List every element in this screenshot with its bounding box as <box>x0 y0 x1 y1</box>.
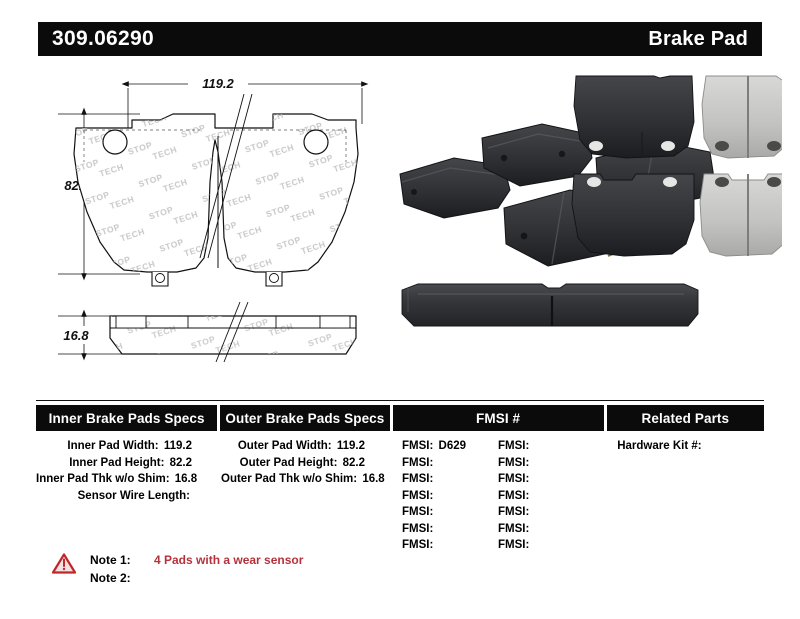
fmsi-row: FMSI: <box>498 471 594 488</box>
column-header-related-parts: Related Parts <box>607 405 764 431</box>
pad-side-view-outline <box>110 302 356 362</box>
spec-label: Outer Pad Width: <box>238 440 332 452</box>
header-bar: 309.06290 Brake Pad <box>38 22 762 56</box>
table-body: Inner Pad Width: 119.2 Inner Pad Height:… <box>36 438 764 554</box>
spec-label: Inner Pad Height: <box>69 457 164 469</box>
fmsi-value <box>529 506 531 518</box>
note-value: 4 Pads with a wear sensor <box>146 551 303 569</box>
fmsi-label: FMSI: <box>402 440 433 452</box>
fmsi-subcolumn-left: FMSI: D629 FMSI: FMSI: FMSI: <box>402 438 498 554</box>
dimension-thickness-label: 16.8 <box>63 328 89 343</box>
related-parts-column: Hardware Kit #: <box>607 438 764 554</box>
spec-row: Outer Pad Height: 82.2 <box>221 455 365 472</box>
spec-label: Inner Pad Thk w/o Shim: <box>36 473 170 485</box>
fmsi-label: FMSI: <box>498 523 529 535</box>
fmsi-row: FMSI: <box>402 488 498 505</box>
spec-row: Inner Pad Height: 82.2 <box>36 455 192 472</box>
fmsi-row: FMSI: <box>402 504 498 521</box>
note-label: Note 2: <box>90 569 146 587</box>
spec-value <box>363 490 365 502</box>
fmsi-value: D629 <box>437 440 467 452</box>
spec-value: 16.8 <box>173 473 197 485</box>
spec-label: Outer Pad Thk w/o Shim: <box>221 473 357 485</box>
fmsi-label: FMSI: <box>498 490 529 502</box>
fmsi-label: FMSI: <box>498 457 529 469</box>
fmsi-label: FMSI: <box>498 506 529 518</box>
fmsi-value <box>433 473 435 485</box>
fmsi-row: FMSI: <box>402 521 498 538</box>
fmsi-column: FMSI: D629 FMSI: FMSI: FMSI: <box>394 438 604 554</box>
fmsi-row: FMSI: <box>498 455 594 472</box>
table-top-rule <box>36 400 764 401</box>
fmsi-row: FMSI: <box>402 537 498 554</box>
column-header-inner-specs: Inner Brake Pads Specs <box>36 405 217 431</box>
spec-value: 82.2 <box>168 457 192 469</box>
related-part-row: Hardware Kit #: <box>617 438 764 455</box>
fmsi-label: FMSI: <box>402 506 433 518</box>
product-photo-area <box>392 62 782 392</box>
pad-top-view-outline <box>74 94 358 286</box>
fmsi-value <box>433 506 435 518</box>
note-row: Note 1: 4 Pads with a wear sensor <box>90 551 303 569</box>
fmsi-row: FMSI: <box>498 521 594 538</box>
outer-specs-column: Outer Pad Width: 119.2 Outer Pad Height:… <box>221 438 391 554</box>
fmsi-label: FMSI: <box>402 539 433 551</box>
fmsi-label: FMSI: <box>402 457 433 469</box>
note-row: Note 2: <box>90 569 303 587</box>
table-header-row: Inner Brake Pads Specs Outer Brake Pads … <box>36 405 764 431</box>
fmsi-label: FMSI: <box>498 473 529 485</box>
fmsi-value <box>433 539 435 551</box>
fmsi-row: FMSI: <box>498 537 594 554</box>
fmsi-value <box>529 440 531 452</box>
product-photos <box>392 62 782 392</box>
spec-row: Inner Pad Width: 119.2 <box>36 438 192 455</box>
spec-value <box>190 490 192 502</box>
part-number: 309.06290 <box>52 27 154 51</box>
fmsi-label: FMSI: <box>402 523 433 535</box>
column-header-outer-specs: Outer Brake Pads Specs <box>220 405 389 431</box>
spec-value: 82.2 <box>341 457 365 469</box>
spec-value: 119.2 <box>335 440 365 452</box>
column-header-fmsi: FMSI # <box>393 405 604 431</box>
fmsi-subcolumn-right: FMSI: FMSI: FMSI: FMSI: <box>498 438 594 554</box>
fmsi-value <box>529 457 531 469</box>
spec-table: Inner Brake Pads Specs Outer Brake Pads … <box>36 400 764 554</box>
fmsi-row: FMSI: <box>498 504 594 521</box>
fmsi-value <box>529 490 531 502</box>
spec-row: Outer Pad Thk w/o Shim: 16.8 <box>221 471 365 488</box>
dimension-width-label: 119.2 <box>202 76 234 91</box>
fmsi-row: FMSI: <box>498 488 594 505</box>
note-value <box>146 569 154 587</box>
warning-triangle-icon <box>52 553 76 579</box>
fmsi-value <box>529 539 531 551</box>
spec-row: Sensor Wire Length: <box>36 488 192 505</box>
notes-list: Note 1: 4 Pads with a wear sensor Note 2… <box>90 551 303 587</box>
fmsi-label: FMSI: <box>498 440 529 452</box>
spec-row: Outer Pad Width: 119.2 <box>221 438 365 455</box>
fmsi-row: FMSI: D629 <box>402 438 498 455</box>
product-type-title: Brake Pad <box>648 28 748 51</box>
spec-row <box>221 488 365 505</box>
technical-drawing-area: STOP TECH 119.2 82.2 <box>40 62 390 392</box>
fmsi-row: FMSI: <box>402 471 498 488</box>
notes-section: Note 1: 4 Pads with a wear sensor Note 2… <box>52 551 303 587</box>
fmsi-value <box>529 473 531 485</box>
related-part-label: Hardware Kit #: <box>617 440 701 452</box>
fmsi-value <box>529 523 531 535</box>
spec-label: Inner Pad Width: <box>67 440 158 452</box>
fmsi-label: FMSI: <box>402 473 433 485</box>
fmsi-value <box>433 490 435 502</box>
spec-label: Sensor Wire Length: <box>78 490 190 502</box>
related-part-value <box>702 440 704 452</box>
spec-value: 119.2 <box>162 440 192 452</box>
brake-pad-edge-photo <box>402 284 698 326</box>
pad-dimension-drawing: STOP TECH 119.2 82.2 <box>40 62 390 392</box>
inner-specs-column: Inner Pad Width: 119.2 Inner Pad Height:… <box>36 438 218 554</box>
fmsi-row: FMSI: <box>402 455 498 472</box>
spec-row: Inner Pad Thk w/o Shim: 16.8 <box>36 471 192 488</box>
fmsi-value <box>433 523 435 535</box>
spec-value: 16.8 <box>360 473 384 485</box>
fmsi-value <box>433 457 435 469</box>
fmsi-row: FMSI: <box>498 438 594 455</box>
fmsi-label: FMSI: <box>402 490 433 502</box>
spec-label: Outer Pad Height: <box>240 457 338 469</box>
note-label: Note 1: <box>90 551 146 569</box>
fmsi-label: FMSI: <box>498 539 529 551</box>
